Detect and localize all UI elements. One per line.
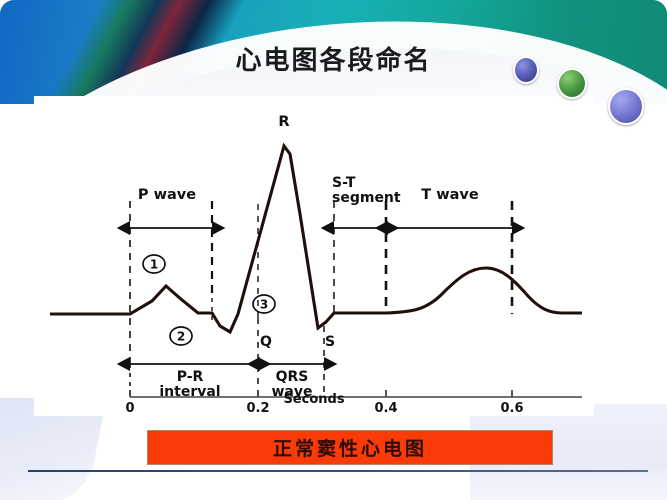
r-peak-label: R xyxy=(278,114,289,130)
ecg-guide-lines xyxy=(130,201,512,396)
decorative-sphere-green-icon xyxy=(557,68,587,99)
caption-banner: 正常窦性心电图 xyxy=(147,430,553,465)
st-segment-label-line2: segment xyxy=(332,190,401,206)
footer-divider-rule xyxy=(28,470,648,472)
q-point-label: Q xyxy=(260,334,272,350)
decorative-sphere-blue-icon xyxy=(513,56,539,84)
decorative-sphere-purple-icon xyxy=(608,88,644,125)
ecg-waveform-trace xyxy=(50,146,582,332)
marker-1-label: 1 xyxy=(150,258,158,272)
s-point-label: S xyxy=(325,334,335,350)
qrs-wave-label-line1: QRS xyxy=(276,369,309,385)
marker-2-label: 2 xyxy=(177,330,185,344)
marker-3-label: 3 xyxy=(260,298,268,312)
ecg-diagram: 1 2 3 P wave R S-T segment T wave Q S P-… xyxy=(34,96,594,416)
slide-canvas: 心电图各段命名 xyxy=(0,0,667,500)
pr-interval-label-line1: P-R xyxy=(177,369,204,385)
ecg-figure-panel: 1 2 3 P wave R S-T segment T wave Q S P-… xyxy=(34,96,594,416)
ecg-circled-markers: 1 2 3 xyxy=(143,255,275,345)
p-wave-label: P wave xyxy=(138,187,196,203)
st-segment-label-line1: S-T xyxy=(332,175,356,191)
t-wave-label: T wave xyxy=(421,187,479,203)
axis-title: Seconds xyxy=(34,392,594,407)
caption-text: 正常窦性心电图 xyxy=(273,434,427,461)
